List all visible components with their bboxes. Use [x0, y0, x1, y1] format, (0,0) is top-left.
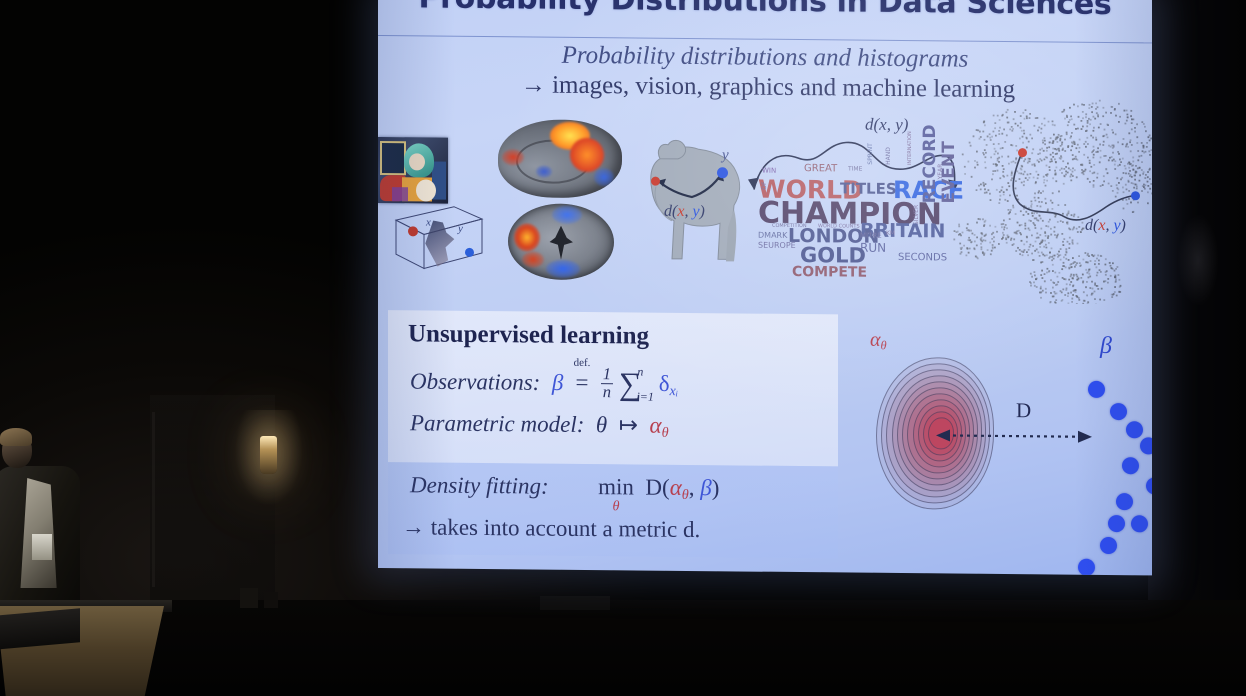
alpha-theta-label: αθ — [870, 329, 887, 354]
cube-y-point — [465, 248, 474, 257]
beta-point — [1140, 437, 1152, 454]
wordcloud-distance-label: d(x, y) — [865, 115, 908, 135]
dog-x-point — [651, 177, 660, 186]
wall-right-highlight — [1178, 215, 1218, 305]
beta-point — [1100, 537, 1117, 554]
dog-distance-label: d(x, y) — [664, 203, 705, 221]
observations-equation: Observations: β def.= 1n ∑ni=1 δxᵢ — [410, 364, 678, 403]
word-cloud-term: GREAT — [804, 164, 837, 174]
density-fitting-equation: Density fitting: minθ D(αθ, β) — [410, 472, 719, 504]
dog-mesh-image: y d(x, y) — [646, 131, 754, 272]
desk-object — [264, 592, 278, 608]
word-cloud-term: RECORD — [923, 124, 939, 203]
tsne-scatter-image: d(x, y) — [946, 87, 1152, 304]
beta-point — [1078, 559, 1095, 576]
desk-object — [540, 596, 610, 610]
beta-point — [1126, 421, 1143, 438]
tsne-y-point — [1131, 191, 1140, 200]
word-cloud-term: SECONDS — [898, 253, 947, 263]
word-cloud-term: KM — [886, 231, 895, 237]
beta-point — [1116, 493, 1133, 510]
cube-x-label: x — [426, 216, 431, 228]
word-cloud-term: GOLD — [800, 246, 866, 266]
beta-point — [1088, 381, 1105, 398]
distance-arrow — [934, 427, 1094, 445]
distance-D-label: D — [1016, 398, 1031, 423]
wall-sconce-light — [260, 436, 277, 474]
slide-subtitle: Probability distributions and histograms — [378, 40, 1152, 75]
desk-object — [240, 588, 258, 608]
parametric-model-equation: Parametric model: θ ↦ αθ — [410, 410, 669, 441]
beta-point — [1122, 457, 1139, 474]
unsupervised-heading: Unsupervised learning — [408, 320, 649, 350]
screenshot-root: Probability Distributions in Data Scienc… — [0, 0, 1246, 696]
tsne-distance-label: d(x, y) — [1085, 217, 1126, 235]
word-cloud-term: INTERNATION — [908, 131, 913, 165]
word-cloud-term: OF — [762, 181, 768, 189]
beta-point — [1146, 477, 1152, 494]
word-cloud-term: SPRINT — [868, 143, 874, 165]
projected-slide: Probability Distributions in Data Scienc… — [378, 0, 1152, 575]
speaker-badge — [32, 534, 52, 560]
word-cloud-term: TITLES — [840, 182, 897, 196]
beta-label: β — [1100, 333, 1112, 360]
cube-x-point — [408, 226, 418, 236]
beta-point — [1131, 515, 1148, 532]
dog-y-label: y — [722, 147, 729, 164]
color-histogram-cube: x y — [392, 202, 486, 273]
slide-title: Probability Distributions in Data Scienc… — [378, 0, 1152, 22]
word-cloud-term: TIME — [848, 167, 862, 173]
brain-lateral-image — [498, 119, 622, 198]
tsne-points — [946, 87, 1152, 304]
word-cloud-image: WINGREATTIMESPRINTHANDINTERNATIONWORLDTI… — [756, 162, 946, 264]
word-cloud-term: WIN — [762, 168, 776, 175]
picasso-painting-image — [378, 137, 448, 204]
brain-axial-image — [508, 203, 614, 280]
wall-post — [152, 412, 155, 587]
word-cloud-term: COMPETE — [792, 266, 867, 280]
word-cloud-term: HAND — [886, 147, 892, 165]
word-cloud-term: MITRE — [860, 233, 882, 240]
density-fitting-figure: αθ D β — [848, 327, 1148, 560]
word-cloud-term: DMARK — [758, 232, 787, 240]
image-montage: x y — [378, 110, 1152, 302]
beta-point — [1108, 515, 1125, 532]
beta-point — [1110, 403, 1127, 420]
dog-y-point — [717, 167, 728, 178]
cube-y-label: y — [458, 223, 463, 235]
speaker-hair — [0, 428, 32, 446]
beta-sample-points — [1078, 359, 1148, 575]
metric-note: → takes into account a metric d. — [402, 514, 700, 543]
tsne-x-point — [1018, 148, 1027, 157]
foreground-floor — [0, 600, 1246, 696]
